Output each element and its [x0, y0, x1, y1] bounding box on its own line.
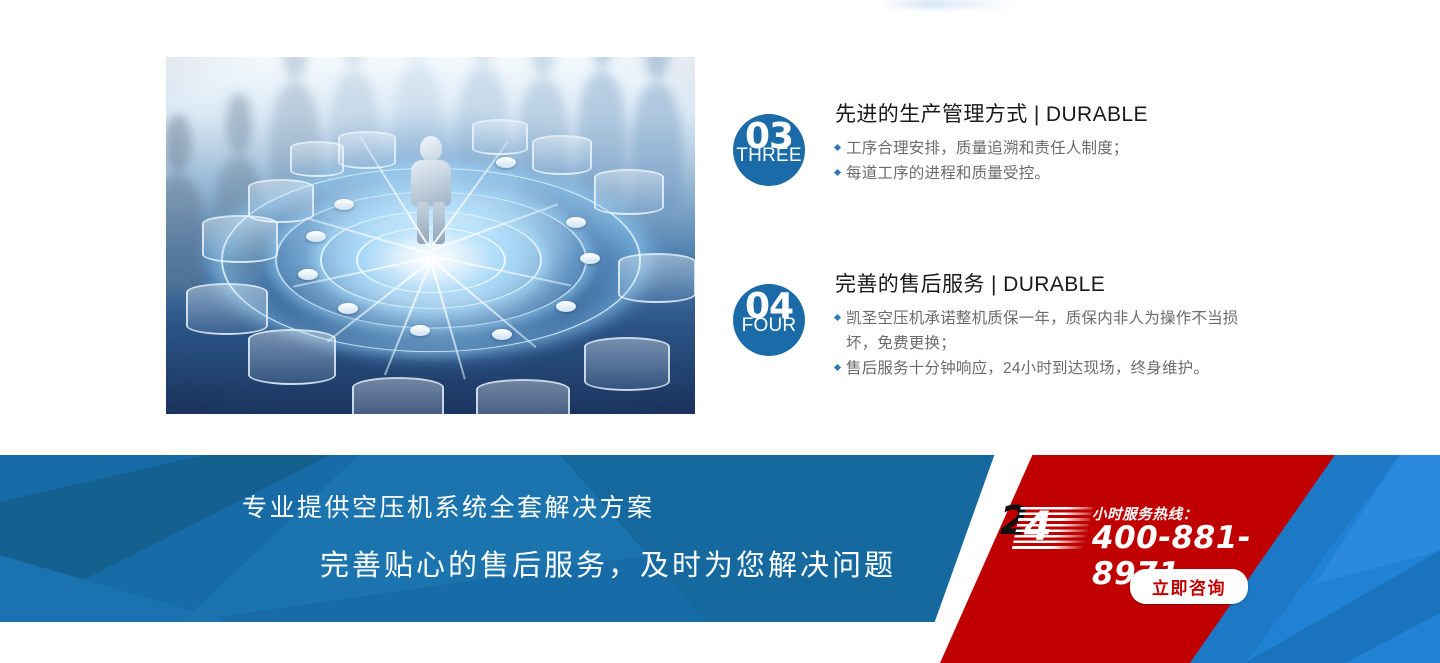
- feature-badge-03: 03 THREE: [733, 114, 805, 186]
- banner-headline-line2: 完善贴心的售后服务，及时为您解决问题: [320, 542, 896, 584]
- hotline-hours-suffix: 4: [1024, 507, 1052, 547]
- feature-title: 完善的售后服务 | DURABLE: [835, 272, 1250, 298]
- bottom-cta-banner: 专业提供空压机系统全套解决方案 完善贴心的售后服务，及时为您解决问题 2 4 小…: [0, 455, 1440, 663]
- feature-bullet: 每道工序的进程和质量受控。: [835, 161, 1148, 186]
- banner-headline-line1: 专业提供空压机系统全套解决方案: [242, 488, 655, 524]
- top-edge-wisp: [880, 0, 1020, 8]
- 24-hour-logo: 2 4: [1000, 503, 1088, 555]
- feature-title: 先进的生产管理方式 | DURABLE: [835, 102, 1148, 128]
- feature-badge-04: 04 FOUR: [733, 284, 805, 356]
- banner-message: 专业提供空压机系统全套解决方案 完善贴心的售后服务，及时为您解决问题: [0, 455, 940, 622]
- photo-vignette: [166, 57, 695, 414]
- feature-text-03: 先进的生产管理方式 | DURABLE 工序合理安排，质量追溯和责任人制度； 每…: [835, 102, 1148, 186]
- feature-bullet: 工序合理安排，质量追溯和责任人制度；: [835, 136, 1148, 161]
- hotline-block: 2 4 小时服务热线： 400-881-8971 立即咨询: [1000, 503, 1300, 623]
- feature-bullet: 凯圣空压机承诺整机质保一年，质保内非人为操作不当损坏，免费更换；: [835, 306, 1250, 356]
- network-concept-image: [166, 57, 695, 414]
- feature-text-04: 完善的售后服务 | DURABLE 凯圣空压机承诺整机质保一年，质保内非人为操作…: [835, 272, 1250, 382]
- badge-word: THREE: [733, 146, 805, 165]
- consult-now-button[interactable]: 立即咨询: [1130, 569, 1248, 604]
- feature-block-04: 04 FOUR 完善的售后服务 | DURABLE 凯圣空压机承诺整机质保一年，…: [733, 272, 1250, 382]
- badge-word: FOUR: [733, 316, 805, 335]
- feature-bullet: 售后服务十分钟响应，24小时到达现场，终身维护。: [835, 356, 1250, 381]
- feature-block-03: 03 THREE 先进的生产管理方式 | DURABLE 工序合理安排，质量追溯…: [733, 102, 1148, 186]
